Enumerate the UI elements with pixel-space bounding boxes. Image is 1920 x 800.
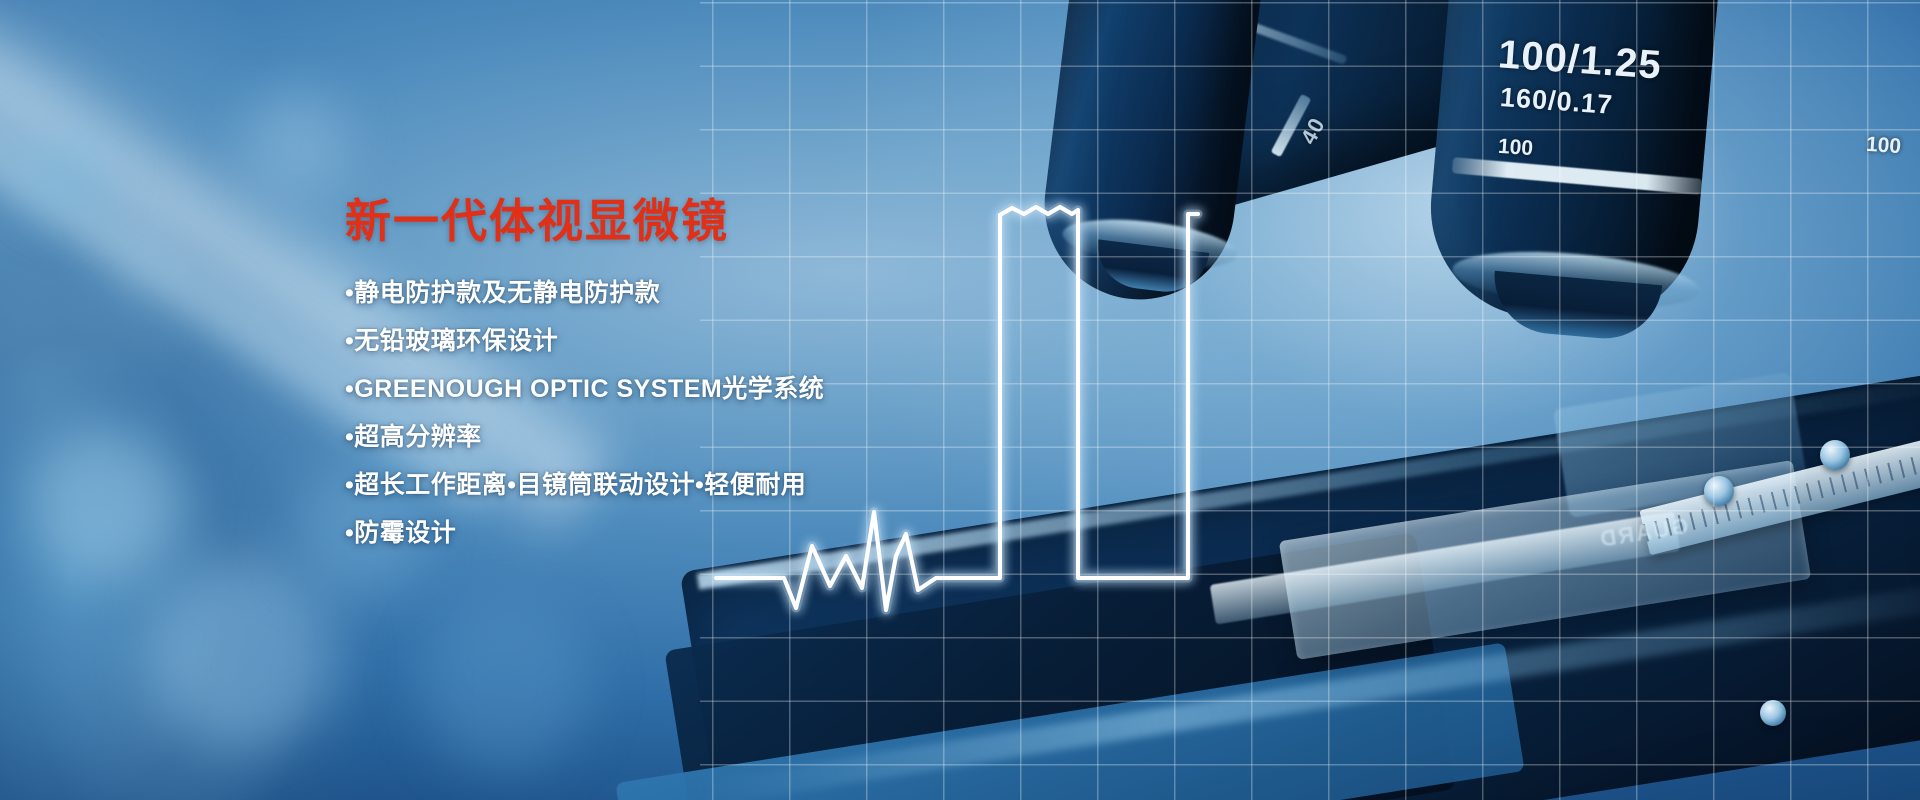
banner-copy: 新一代体视显微镜 •静电防护款及无静电防护款 •无铅玻璃环保设计 •GREENO… [345, 196, 985, 569]
bokeh-circle [240, 90, 350, 200]
hero-banner: GUARD 40 100/1.25 160/0.17 100 100 新一代体视… [0, 0, 1920, 800]
page-title: 新一代体视显微镜 [345, 196, 985, 247]
objective-band-label-left: 100 [1497, 135, 1534, 161]
list-item: •超长工作距离•目镜筒联动设计•轻便耐用 [345, 473, 985, 498]
list-item: •超高分辨率 [345, 425, 985, 450]
feature-list: •静电防护款及无静电防护款 •无铅玻璃环保设计 •GREENOUGH OPTIC… [345, 281, 985, 546]
bokeh-circle [30, 430, 180, 580]
objective-band-label-right: 100 [1865, 133, 1902, 159]
stage-screw [1704, 476, 1734, 506]
bokeh-circle [20, 130, 110, 220]
stage-screw [1820, 440, 1850, 470]
bokeh-circle [420, 600, 590, 770]
list-item: •GREENOUGH OPTIC SYSTEM光学系统 [345, 377, 985, 402]
list-item: •静电防护款及无静电防护款 [345, 281, 985, 306]
list-item: •防霉设计 [345, 521, 985, 546]
list-item: •无铅玻璃环保设计 [345, 329, 985, 354]
bokeh-circle [150, 560, 340, 750]
stage-screw [1760, 700, 1786, 726]
